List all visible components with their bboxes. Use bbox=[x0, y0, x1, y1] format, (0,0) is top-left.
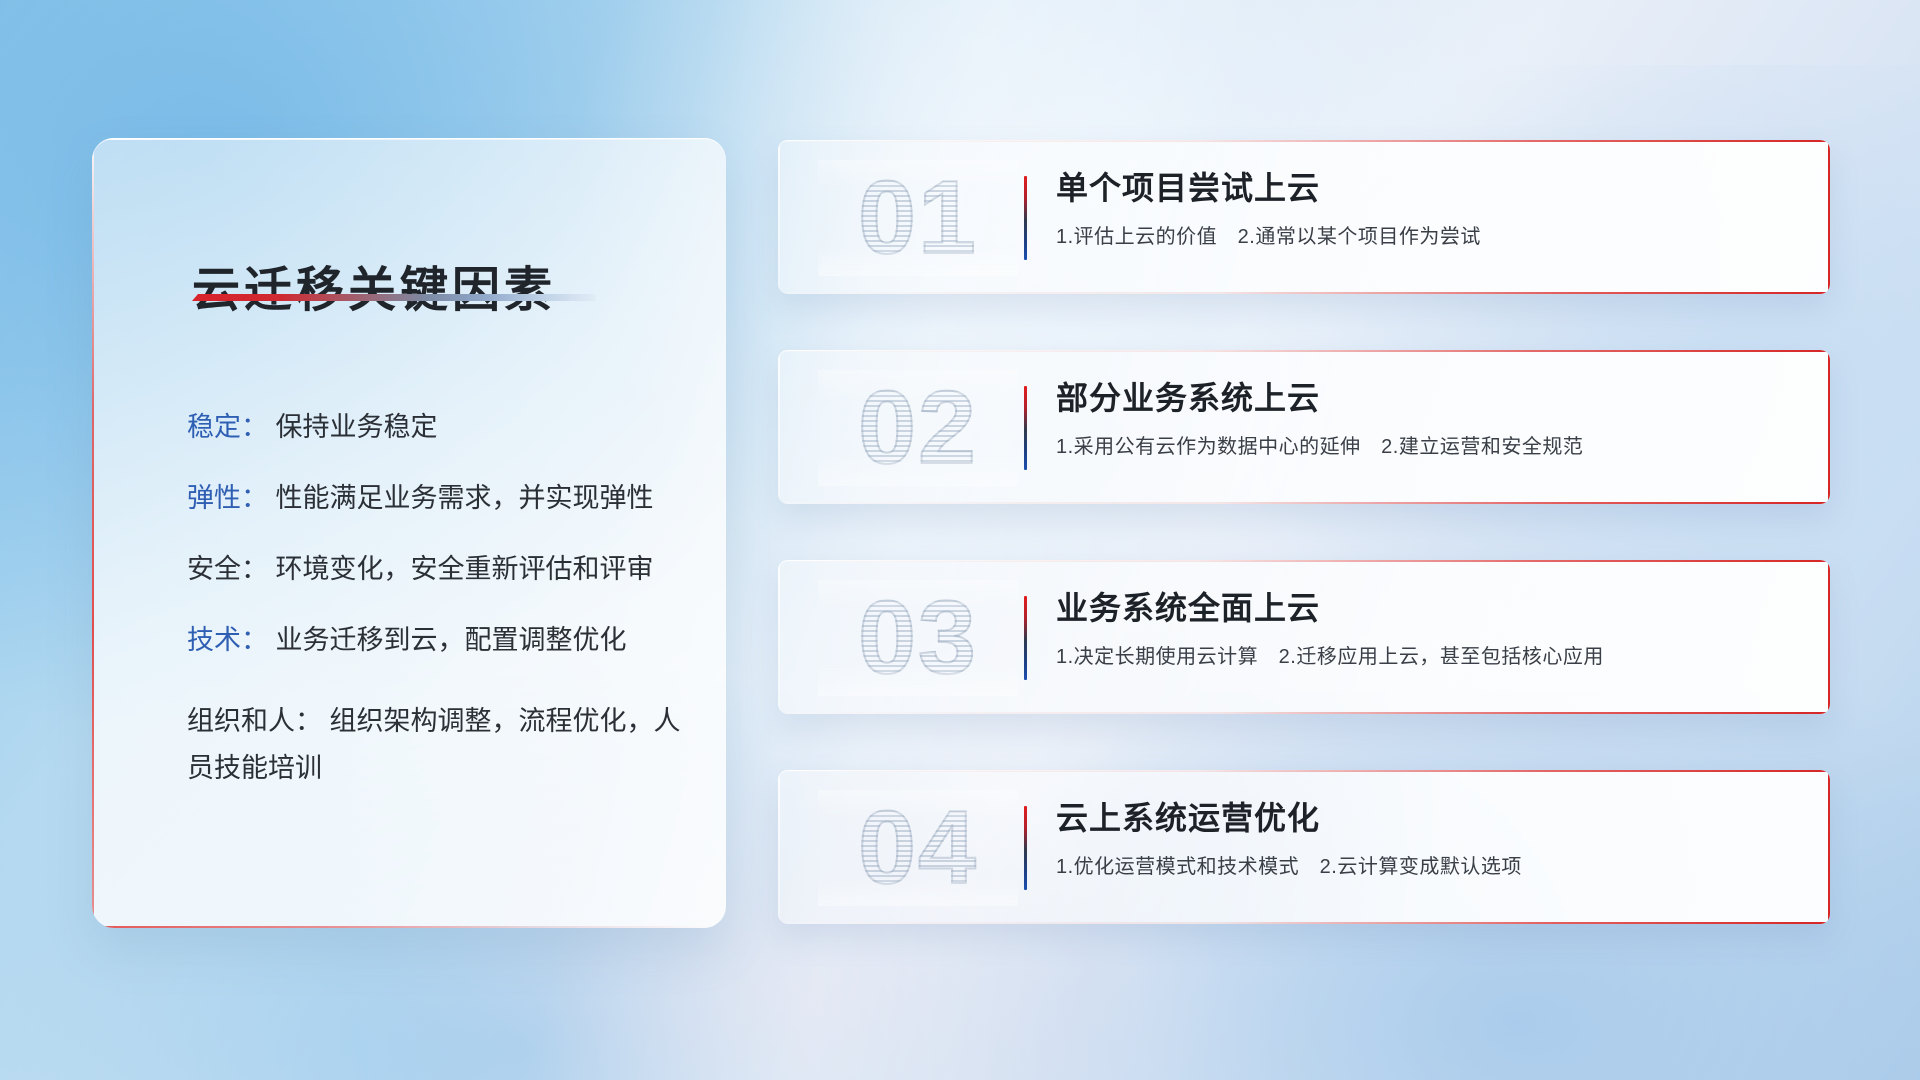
step-number-watermark: 03 bbox=[818, 580, 1018, 696]
factor-label: 安全： bbox=[187, 554, 268, 584]
list-item: 弹性： 性能满足业务需求，并实现弹性 bbox=[187, 485, 692, 512]
key-factors-list: 稳定： 保持业务稳定 弹性： 性能满足业务需求，并实现弹性 安全： 环境变化，安… bbox=[187, 414, 692, 836]
step-title: 云上系统运营优化 bbox=[1056, 798, 1804, 838]
step-title: 单个项目尝试上云 bbox=[1056, 168, 1804, 208]
card-border-bottom bbox=[778, 712, 1830, 714]
step-number-watermark: 04 bbox=[818, 790, 1018, 906]
step-accent-bar bbox=[1024, 596, 1027, 680]
factor-value: 性能满足业务需求，并实现弹性 bbox=[276, 483, 654, 513]
factor-label: 弹性： bbox=[187, 483, 268, 513]
step-subtitle: 1.优化运营模式和技术模式 2.云计算变成默认选项 bbox=[1056, 850, 1804, 879]
card-border-bottom bbox=[778, 502, 1830, 504]
step-number-watermark: 01 bbox=[818, 160, 1018, 276]
factor-value: 环境变化，安全重新评估和评审 bbox=[276, 554, 654, 584]
panel-edge-top bbox=[92, 138, 726, 140]
step-number-watermark: 02 bbox=[818, 370, 1018, 486]
card-border-right-accent bbox=[1828, 140, 1830, 294]
step-card-01[interactable]: 01 单个项目尝试上云 1.评估上云的价值 2.通常以某个项目作为尝试 bbox=[778, 140, 1830, 294]
step-text-block: 业务系统全面上云 1.决定长期使用云计算 2.迁移应用上云，甚至包括核心应用 bbox=[1056, 588, 1804, 669]
card-border-right-accent bbox=[1828, 770, 1830, 924]
step-card-04[interactable]: 04 云上系统运营优化 1.优化运营模式和技术模式 2.云计算变成默认选项 bbox=[778, 770, 1830, 924]
card-border-bottom bbox=[778, 292, 1830, 294]
card-border-top bbox=[778, 140, 1830, 142]
factor-label: 技术： bbox=[187, 625, 268, 655]
step-title: 部分业务系统上云 bbox=[1056, 378, 1804, 418]
step-subtitle: 1.评估上云的价值 2.通常以某个项目作为尝试 bbox=[1056, 220, 1804, 249]
card-border-right-accent bbox=[1828, 350, 1830, 504]
list-item: 安全： 环境变化，安全重新评估和评审 bbox=[187, 556, 692, 583]
step-accent-bar bbox=[1024, 176, 1027, 260]
card-border-right-accent bbox=[1828, 560, 1830, 714]
panel-edge-bottom-accent bbox=[92, 926, 726, 928]
card-border-top bbox=[778, 350, 1830, 352]
step-accent-bar bbox=[1024, 386, 1027, 470]
card-border-left bbox=[778, 770, 780, 924]
title-underline-accent bbox=[192, 294, 596, 301]
card-border-left bbox=[778, 350, 780, 504]
card-border-bottom bbox=[778, 922, 1830, 924]
list-item: 组织和人： 组织架构调整，流程优化，人员技能培训 bbox=[187, 698, 692, 792]
step-text-block: 云上系统运营优化 1.优化运营模式和技术模式 2.云计算变成默认选项 bbox=[1056, 798, 1804, 879]
step-title: 业务系统全面上云 bbox=[1056, 588, 1804, 628]
list-item: 稳定： 保持业务稳定 bbox=[187, 414, 692, 441]
step-text-block: 单个项目尝试上云 1.评估上云的价值 2.通常以某个项目作为尝试 bbox=[1056, 168, 1804, 249]
factor-label: 稳定： bbox=[187, 412, 268, 442]
card-border-top bbox=[778, 560, 1830, 562]
card-border-top bbox=[778, 770, 1830, 772]
list-item: 技术： 业务迁移到云，配置调整优化 bbox=[187, 627, 692, 654]
step-text-block: 部分业务系统上云 1.采用公有云作为数据中心的延伸 2.建立运营和安全规范 bbox=[1056, 378, 1804, 459]
step-card-03[interactable]: 03 业务系统全面上云 1.决定长期使用云计算 2.迁移应用上云，甚至包括核心应… bbox=[778, 560, 1830, 714]
card-border-left bbox=[778, 140, 780, 294]
key-factors-panel: 云迁移关键因素 稳定： 保持业务稳定 弹性： 性能满足业务需求，并实现弹性 安全… bbox=[92, 138, 726, 928]
step-subtitle: 1.采用公有云作为数据中心的延伸 2.建立运营和安全规范 bbox=[1056, 430, 1804, 459]
page-title: 云迁移关键因素 bbox=[192, 250, 556, 320]
factor-value: 保持业务稳定 bbox=[276, 412, 438, 442]
panel-edge-left-accent bbox=[92, 138, 94, 928]
step-card-02[interactable]: 02 部分业务系统上云 1.采用公有云作为数据中心的延伸 2.建立运营和安全规范 bbox=[778, 350, 1830, 504]
card-border-left bbox=[778, 560, 780, 714]
factor-value: 业务迁移到云，配置调整优化 bbox=[276, 625, 627, 655]
step-subtitle: 1.决定长期使用云计算 2.迁移应用上云，甚至包括核心应用 bbox=[1056, 640, 1804, 669]
factor-label: 组织和人： bbox=[187, 706, 322, 736]
step-accent-bar bbox=[1024, 806, 1027, 890]
